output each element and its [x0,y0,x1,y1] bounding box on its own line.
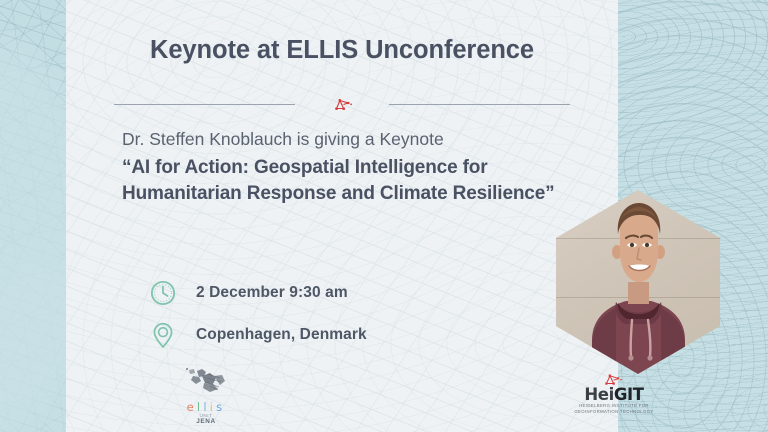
europe-map-icon [180,366,232,400]
left-map-band [0,0,66,432]
divider-line-right [389,104,570,105]
event-details: 2 December 9:30 am Copenhagen, Denmark [146,272,576,356]
clock-icon [146,276,180,310]
heigit-network-mark-icon [329,95,355,113]
heigit-logo: HeiGIT HEIDELBERG INSTITUTE FOR GEOINFOR… [572,372,656,420]
page-title: Keynote at ELLIS Unconference [66,36,618,65]
divider [114,95,570,113]
heigit-name-part2: GIT [614,385,644,404]
ellis-letter-5: s [216,400,225,414]
location-pin-icon [146,318,180,352]
heigit-wordmark: HeiGIT [572,385,656,404]
left-river-overlay [0,0,66,432]
ellis-wordmark: ellis [170,400,242,414]
speaker-portrait-hexagon [556,190,720,374]
poster-content: Keynote at ELLIS Unconference [66,0,618,432]
heigit-tagline: HEIDELBERG INSTITUTE FOR GEOINFORMATION … [572,403,656,416]
heigit-name-part1: Hei [584,385,613,404]
event-location-row: Copenhagen, Denmark [146,314,576,356]
portrait-hex-frame [556,190,720,374]
poster-canvas: Keynote at ELLIS Unconference [0,0,768,432]
lead-line: Dr. Steffen Knoblauch is giving a Keynot… [122,128,592,150]
talk-title: “AI for Action: Geospatial Intelligence … [122,155,592,207]
event-location: Copenhagen, Denmark [196,326,367,344]
portrait-illustration [556,190,720,374]
event-datetime: 2 December 9:30 am [196,284,348,302]
ellis-logo: ellis UNIT JENA [170,366,242,426]
event-datetime-row: 2 December 9:30 am [146,272,576,314]
ellis-letter-1: e [187,400,197,414]
ellis-site-label: JENA [170,418,242,425]
divider-line-left [114,104,295,105]
